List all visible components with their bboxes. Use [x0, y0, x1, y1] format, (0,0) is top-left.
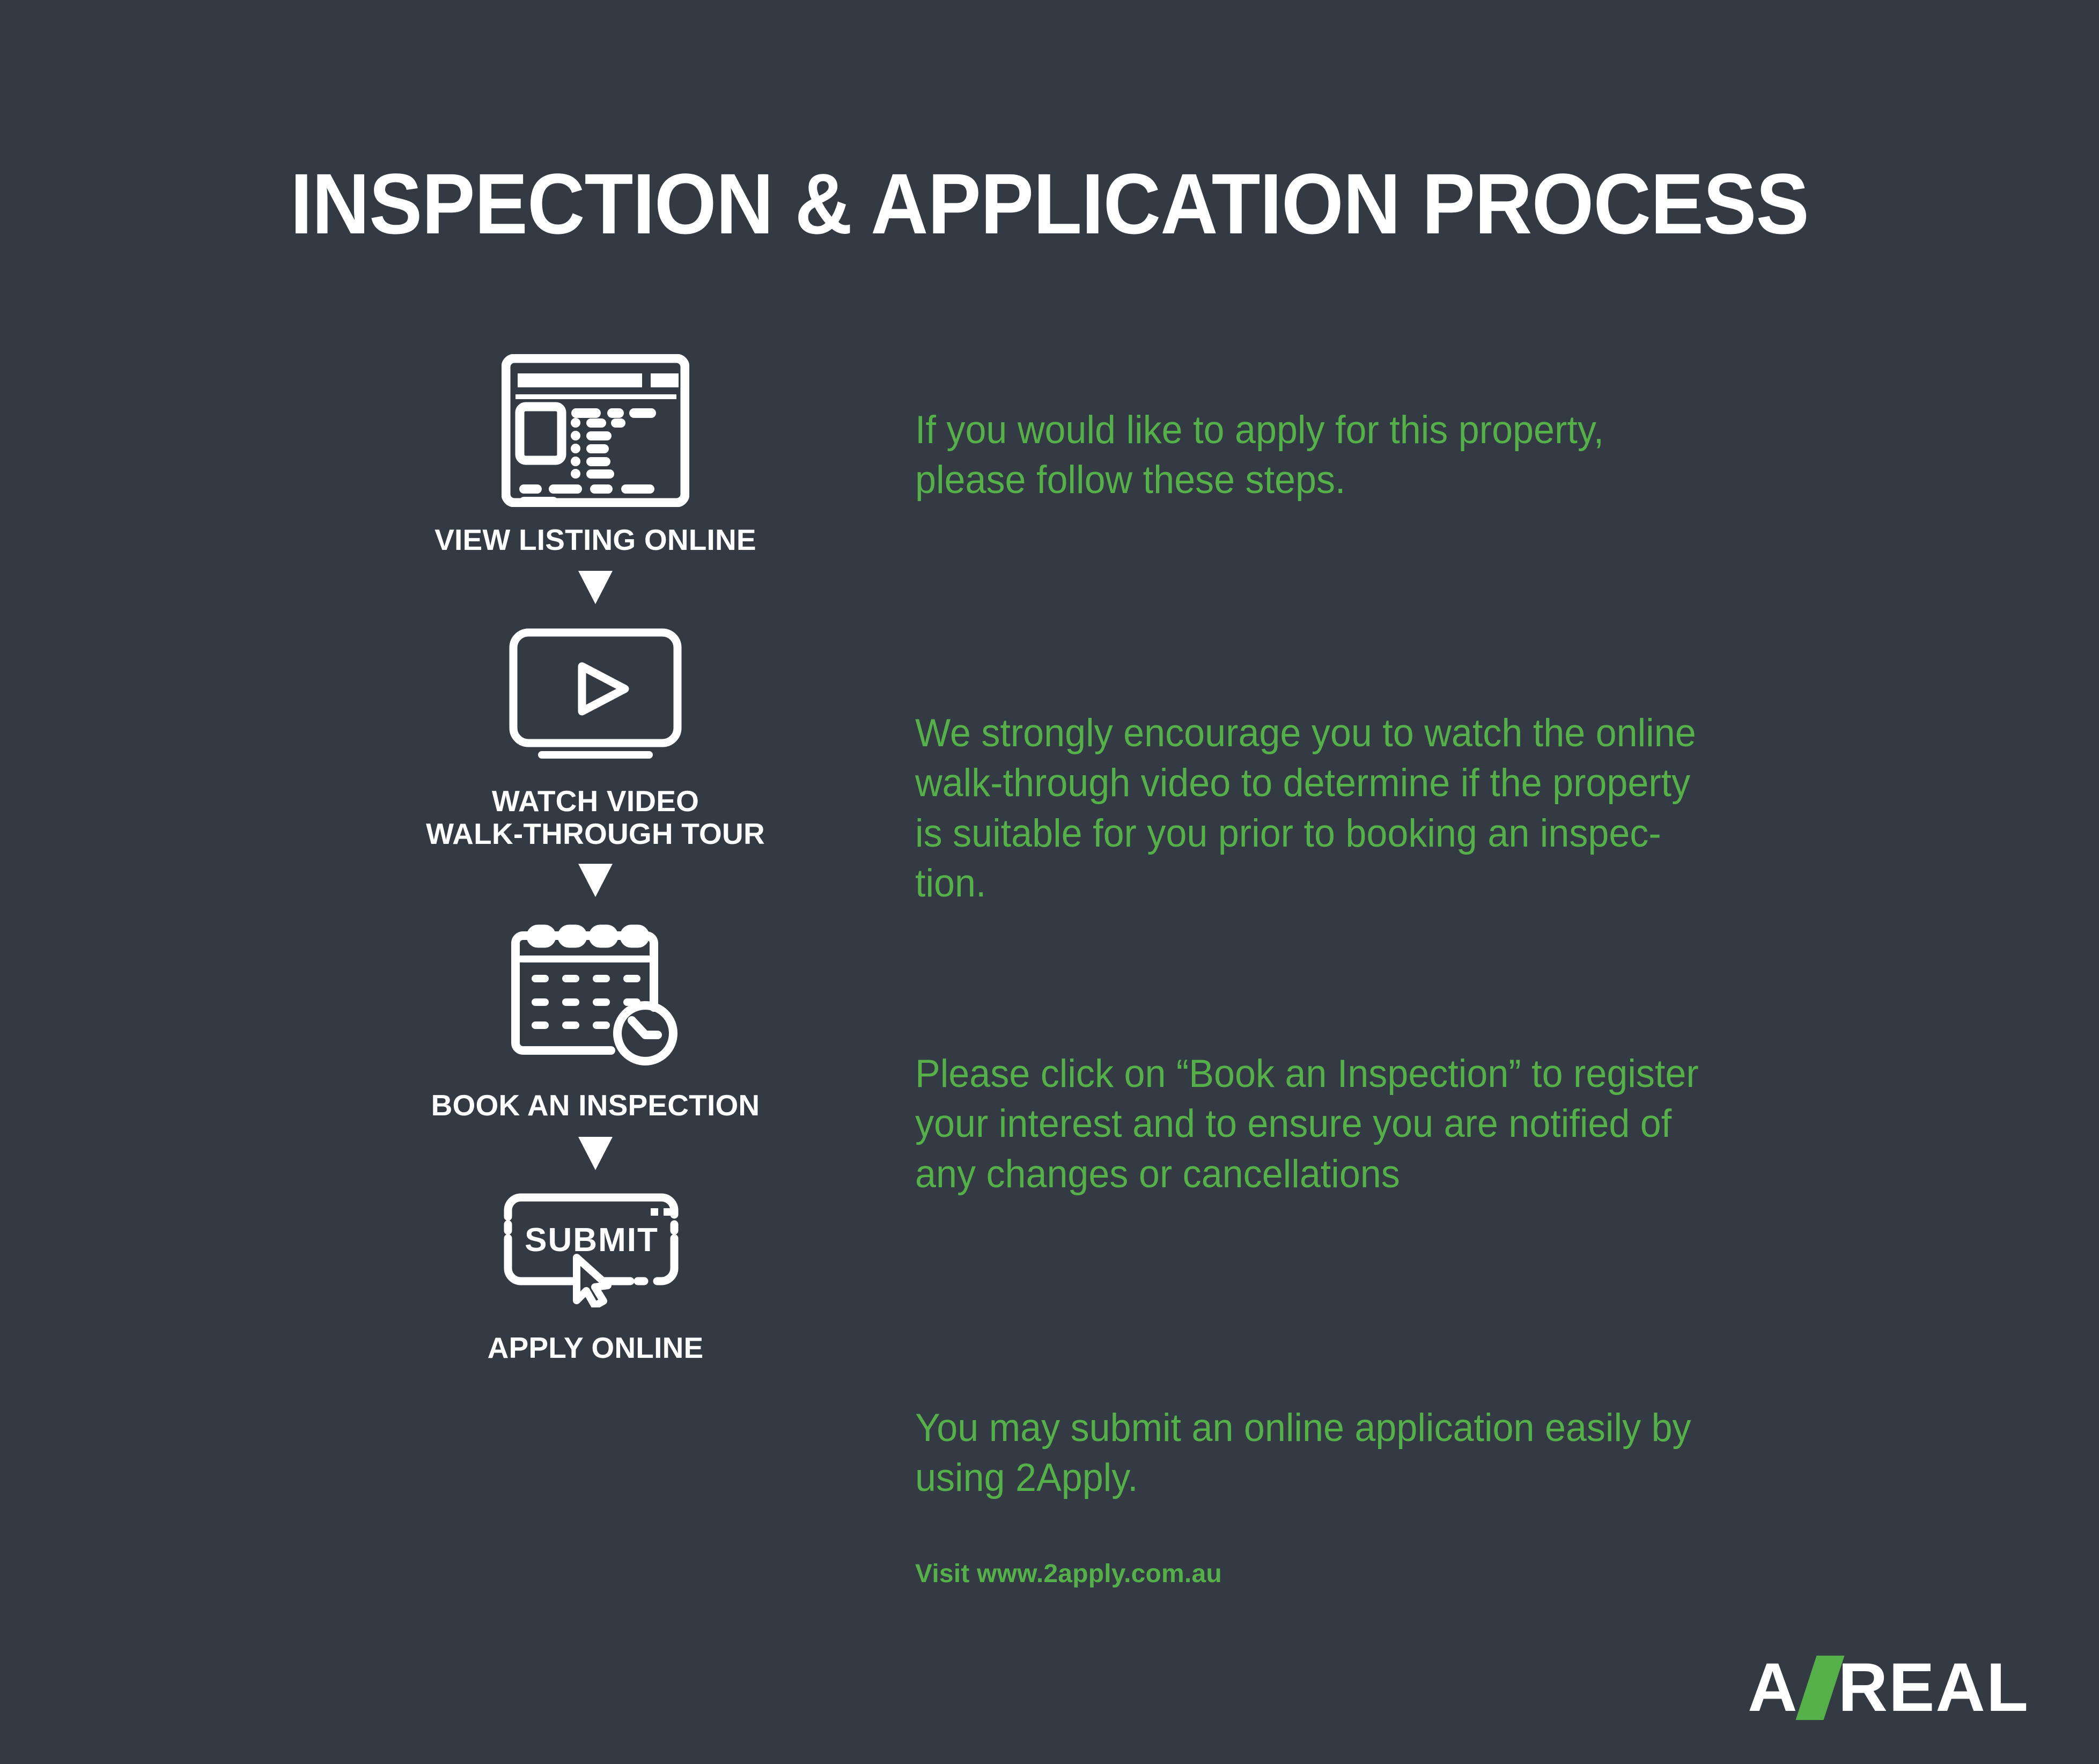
calendar-clock-icon	[300, 912, 890, 1075]
logo-text-real: REAL	[1838, 1653, 2029, 1722]
down-arrow-icon	[578, 571, 613, 607]
page-title: INSPECTION & APPLICATION PROCESS	[73, 161, 2026, 247]
video-play-screen-icon	[300, 621, 890, 771]
step-body-view-listing: If you would like to apply for this prop…	[915, 405, 1837, 505]
submit-button-cursor-icon: SUBMIT	[300, 1187, 890, 1310]
visit-link[interactable]: Visit www.2apply.com.au	[915, 1559, 1222, 1590]
step-book-an-inspection: BOOK AN INSPECTION	[300, 912, 890, 1122]
flow-arrow-1	[300, 571, 890, 607]
step-label: VIEW LISTING ONLINE	[300, 524, 890, 557]
step-apply-online: SUBMIT APPLY ONLINE	[300, 1187, 890, 1365]
flow-arrow-2	[300, 864, 890, 900]
process-flow-column: VIEW LISTING ONLINE WATCH VIDEO WALK-THR…	[300, 354, 890, 1365]
step-view-listing-online: VIEW LISTING ONLINE	[300, 354, 890, 557]
step-label: WATCH VIDEO WALK-THROUGH TOUR	[300, 785, 890, 851]
brand-logo[interactable]: A REAL	[1748, 1653, 2029, 1722]
step-label: APPLY ONLINE	[300, 1332, 890, 1365]
step-body-watch-video: We strongly encourage you to watch the o…	[915, 708, 1837, 909]
logo-slash-icon	[1795, 1656, 1844, 1720]
flow-arrow-3	[300, 1137, 890, 1173]
step-body-apply-online: You may submit an online application eas…	[915, 1403, 1837, 1503]
down-arrow-icon	[578, 864, 613, 900]
listing-page-icon	[300, 354, 890, 510]
logo-text-a: A	[1748, 1653, 1798, 1722]
down-arrow-icon	[578, 1137, 613, 1173]
step-body-book-inspection: Please click on “Book an Inspection” to …	[915, 1049, 1837, 1199]
step-label: BOOK AN INSPECTION	[300, 1089, 890, 1122]
infographic-page: INSPECTION & APPLICATION PROCESS	[0, 0, 2099, 1764]
submit-icon-label: SUBMIT	[525, 1222, 659, 1259]
step-watch-video-walkthrough: WATCH VIDEO WALK-THROUGH TOUR	[300, 621, 890, 851]
